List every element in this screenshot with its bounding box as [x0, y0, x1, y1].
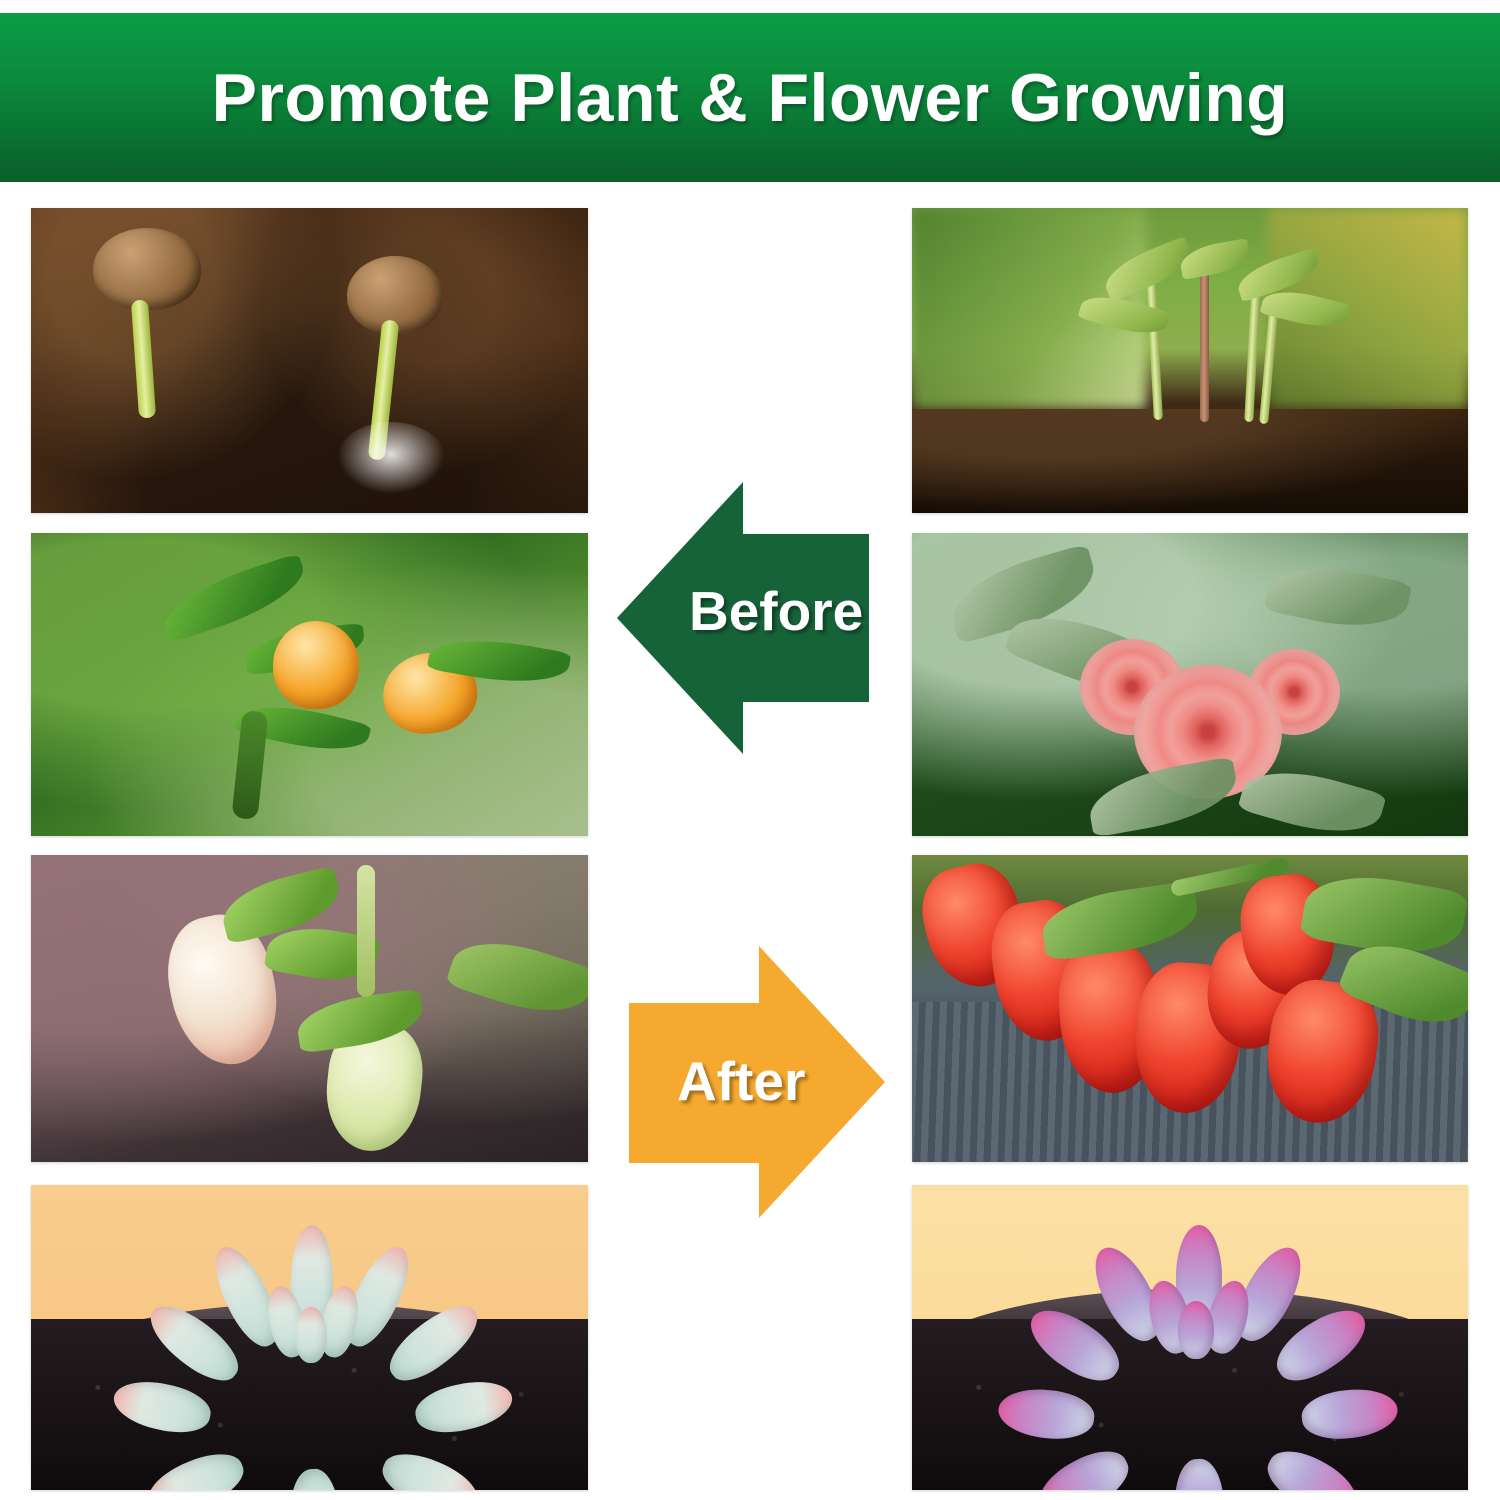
succulent-rosette-pale: [179, 1223, 447, 1471]
sprout-stem-2: [1200, 260, 1209, 422]
root-fuzz: [337, 422, 445, 494]
unripe-stem: [357, 865, 375, 997]
header-banner: Promote Plant & Flower Growing: [0, 13, 1500, 182]
image-sprouting-seeds-in-soil: [31, 208, 588, 513]
image-ripe-red-strawberries: [912, 855, 1468, 1162]
petal: [1178, 1301, 1214, 1359]
page-title: Promote Plant & Flower Growing: [212, 64, 1289, 132]
infographic-page: Promote Plant & Flower Growing: [0, 0, 1500, 1500]
before-arrow: Before: [617, 478, 869, 758]
image-blooming-pink-roses: [912, 533, 1468, 836]
after-arrow: After: [629, 942, 885, 1222]
soil-band: [912, 409, 1468, 513]
after-arrow-label: After: [677, 1054, 805, 1109]
image-vibrant-purple-succulent: [912, 1185, 1468, 1490]
image-healthy-green-sprouts: [912, 208, 1468, 513]
succulent-rosette-purple: [1066, 1225, 1328, 1461]
before-arrow-label: Before: [689, 584, 863, 639]
petal-center: [295, 1307, 327, 1363]
image-unopened-flower-buds: [31, 533, 588, 836]
image-unripe-strawberries: [31, 855, 588, 1162]
flower-bud-left: [273, 621, 359, 709]
image-pale-succulent: [31, 1185, 588, 1490]
seed-husk-left: [93, 228, 201, 310]
